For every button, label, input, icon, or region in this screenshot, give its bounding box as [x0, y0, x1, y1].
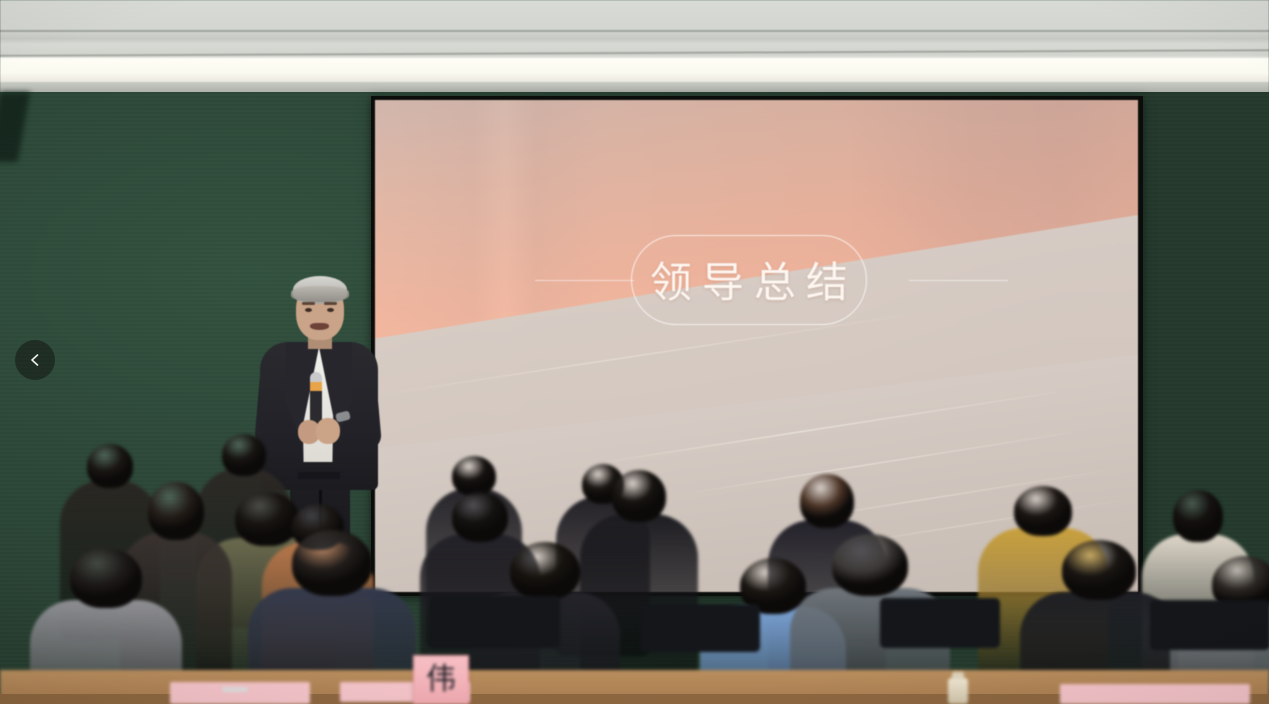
attendee-head: [1173, 490, 1223, 542]
chair-back: [880, 598, 1000, 648]
previous-photo-button[interactable]: [15, 340, 55, 380]
ceiling-seam: [0, 30, 1269, 32]
pen: [222, 687, 248, 692]
ceiling-light-strip: [0, 58, 1269, 82]
attendee-head: [452, 492, 508, 542]
document-paper: [1060, 684, 1250, 704]
attendee-head: [832, 534, 908, 596]
attendee-head: [222, 434, 266, 476]
name-placard: 伟: [413, 655, 469, 704]
speaker-brow-right: [324, 302, 337, 305]
slide-rule-left: [535, 280, 634, 281]
water-bottle: [948, 678, 968, 704]
attendee-head: [612, 470, 666, 522]
speaker-eye-right: [327, 308, 334, 312]
ceiling-seam: [0, 49, 1269, 57]
speaker-brow-left: [302, 302, 315, 305]
ceiling: [0, 0, 1269, 92]
name-placard-text: 伟: [426, 665, 456, 695]
attendee-head: [510, 542, 580, 600]
slide-title-pill: 领导总结: [631, 235, 868, 325]
speaker-eye-left: [305, 308, 312, 312]
speaker-mouth: [310, 323, 329, 330]
speaker-hair: [293, 276, 347, 304]
attendee-head: [70, 548, 142, 608]
slide-title-text: 领导总结: [640, 249, 858, 310]
attendee-head: [292, 530, 372, 596]
slide-rule-right: [909, 280, 1008, 281]
audience: [0, 430, 1269, 704]
attendee-head: [800, 474, 854, 528]
attendee-head: [148, 482, 204, 540]
chevron-left-icon: [27, 352, 43, 368]
document-paper: [170, 682, 310, 704]
chair-back: [640, 604, 760, 652]
chair-back: [1150, 600, 1269, 650]
attendee-head: [1014, 486, 1072, 536]
chair-back: [430, 596, 560, 648]
attendee-head: [452, 456, 496, 496]
photo-viewer-stage: 领导总结 伟: [0, 0, 1269, 704]
attendee-head: [1062, 540, 1136, 600]
